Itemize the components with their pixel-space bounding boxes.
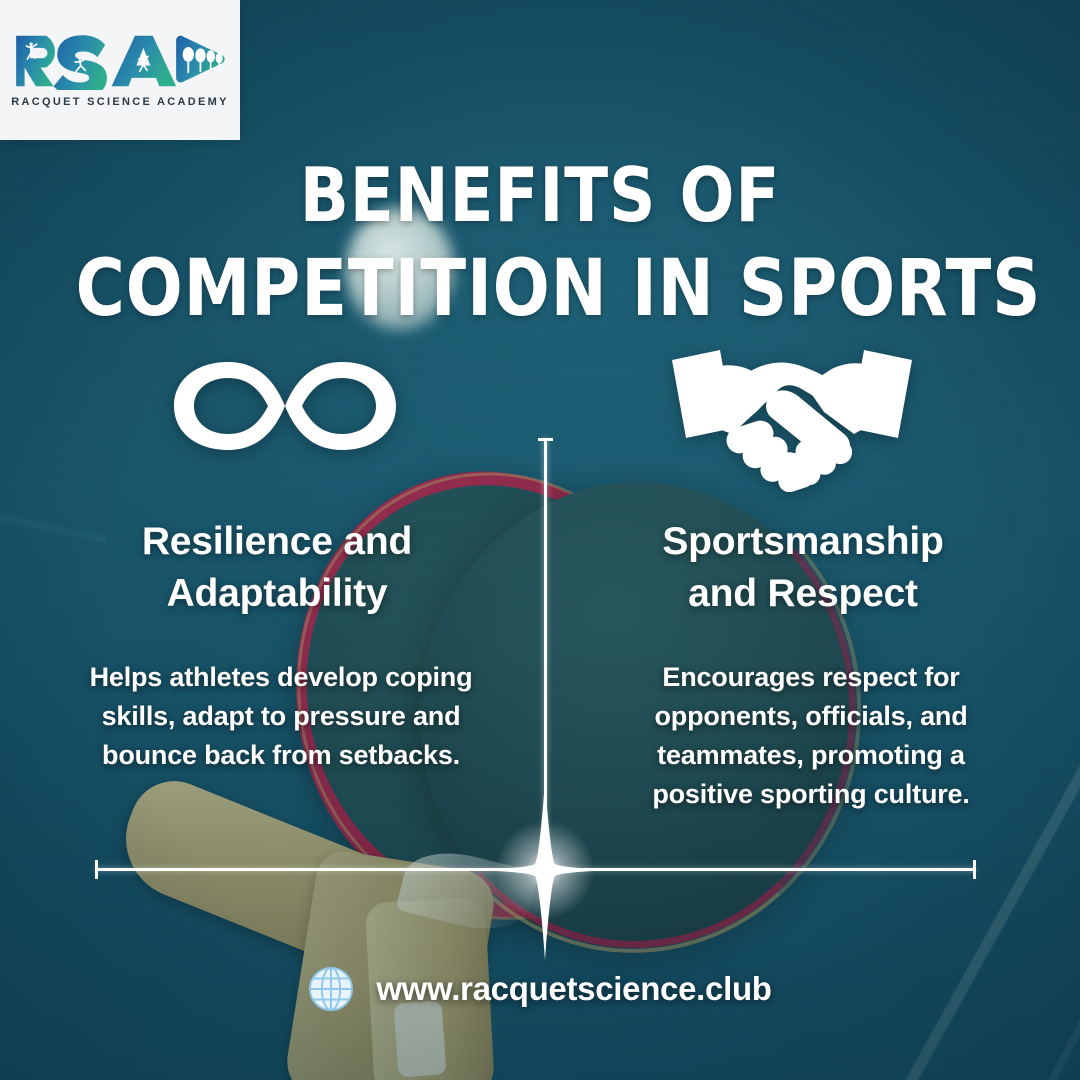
benefit-heading-line-1: Resilience and — [142, 520, 412, 563]
website-url[interactable]: www.racquetscience.club — [376, 970, 771, 1008]
benefit-heading-line-1: Sportsmanship — [662, 520, 943, 563]
benefit-heading: Sportsmanship and Respect — [588, 516, 1018, 620]
benefit-column-2: Sportsmanship and Respect Encourages res… — [588, 516, 1018, 814]
globe-icon — [308, 966, 354, 1012]
poster-canvas: RACQUET SCIENCE ACADEMY BENEFITS OF COMP… — [0, 0, 1080, 1080]
footer: www.racquetscience.club — [0, 966, 1080, 1012]
infinity-icon — [160, 346, 410, 466]
benefit-column-1: Resilience and Adaptability Helps athlet… — [62, 516, 492, 775]
benefit-body: Helps athletes develop coping skills, ad… — [62, 658, 492, 775]
rsa-logo-icon — [11, 32, 229, 90]
page-title: BENEFITS OF COMPETITION IN SPORTS — [76, 148, 1005, 336]
brand-logo[interactable]: RACQUET SCIENCE ACADEMY — [0, 0, 240, 140]
benefit-heading-line-2: and Respect — [688, 572, 918, 615]
benefit-heading-line-2: Adaptability — [167, 572, 388, 615]
vertical-divider — [544, 438, 547, 870]
title-line-2: COMPETITION IN SPORTS — [76, 242, 1005, 336]
benefit-body: Encourages respect for opponents, offici… — [588, 658, 1018, 814]
handshake-icon — [668, 342, 916, 492]
benefit-heading: Resilience and Adaptability — [62, 516, 492, 620]
brand-tagline: RACQUET SCIENCE ACADEMY — [11, 96, 229, 108]
title-line-1: BENEFITS OF — [76, 148, 1005, 242]
horizontal-divider — [95, 868, 976, 871]
